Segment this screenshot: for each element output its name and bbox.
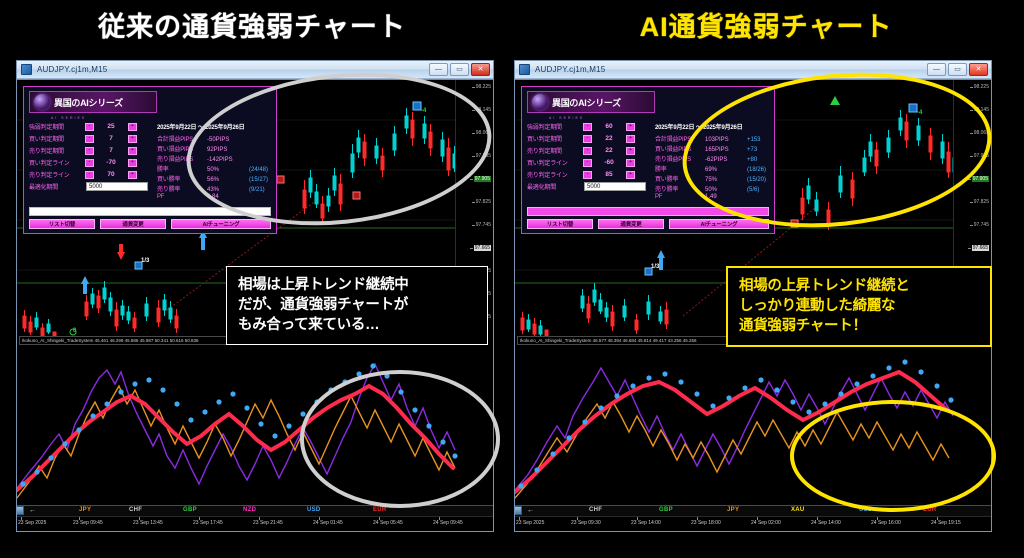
stat-row: 売り勝率 50% (5/6) xyxy=(655,184,769,194)
stat-label: 買い損益PIPS xyxy=(157,144,207,153)
date-label: 23 Sep 09:45 xyxy=(73,520,103,526)
date-label: 24 Sep 05:45 xyxy=(373,520,403,526)
stats-list-left: 2025年9月22日 ～ 2025年9月26日 合計損益PIPS -50PIPS… xyxy=(157,121,271,204)
stat-label: 買い勝率 xyxy=(157,174,207,183)
chart-label-right-0: 1/3 xyxy=(651,264,659,270)
param-value: 70 xyxy=(94,171,128,178)
chart-window-icon xyxy=(519,64,530,75)
strength-indicator-pane-right xyxy=(515,338,991,505)
stat-value: -50PIPS xyxy=(207,137,249,143)
param-row[interactable]: 売り判定ライン - 85 + xyxy=(527,169,649,180)
price-tick: 98.065 xyxy=(476,130,491,136)
price-tick-marker: 97.665 xyxy=(474,245,491,251)
param-label: 売り判定期間 xyxy=(29,146,85,155)
optimize-row[interactable]: 最適化期間 5000 xyxy=(29,181,151,192)
param-row[interactable]: 売り判定ライン - 70 + xyxy=(29,169,151,180)
ai-orb-icon xyxy=(34,94,50,110)
strength-lines-left xyxy=(17,338,493,506)
param-increment-button[interactable]: + xyxy=(128,135,137,143)
param-increment-button[interactable]: + xyxy=(626,171,635,179)
parameter-list-right: 強弱判定期間 - 60 + 買い判定期間 - 22 + 売り判定期間 xyxy=(527,121,649,204)
maximize-button-left[interactable]: ▭ xyxy=(450,63,469,76)
param-increment-button[interactable]: + xyxy=(128,147,137,155)
currency-change-button-left[interactable]: 通貨変更 xyxy=(100,219,166,229)
param-decrement-button[interactable]: - xyxy=(583,159,592,167)
list-switch-button-right[interactable]: リスト切替 xyxy=(527,219,593,229)
stat-label: 売り損益PIPS xyxy=(655,154,705,163)
stat-value: -142PIPS xyxy=(207,157,249,163)
date-label: 23 Sep 09:30 xyxy=(571,520,601,526)
param-decrement-button[interactable]: - xyxy=(85,159,94,167)
stat-value: 92PIPS xyxy=(207,147,249,153)
stat-value: -62PIPS xyxy=(705,157,747,163)
param-increment-button[interactable]: + xyxy=(128,123,137,131)
scroll-left-arrow-left[interactable]: ← xyxy=(29,507,36,514)
stat-row: 勝率 69% (18/26) xyxy=(655,164,769,174)
param-value: -70 xyxy=(94,159,128,166)
stat-delta: (18/26) xyxy=(747,167,766,173)
date-label: 23 Sep 17:45 xyxy=(193,520,223,526)
chart-label-right-1: -4 xyxy=(917,110,922,116)
chart-nav-handle-left[interactable] xyxy=(17,506,24,515)
window-titlebar-left[interactable]: AUDJPY.cj1m,M15 — ▭ ✕ xyxy=(17,61,493,79)
param-row[interactable]: 買い判定期間 - 22 + xyxy=(527,133,649,144)
price-tick-current: 97.905 xyxy=(972,176,989,182)
stat-row: 勝率 50% (24/48) xyxy=(157,164,271,174)
date-label: 24 Sep 02:00 xyxy=(751,520,781,526)
param-value: 7 xyxy=(94,135,128,142)
stat-value: 0.84 xyxy=(207,194,249,200)
currency-tag-chf: CHF xyxy=(129,507,142,513)
param-decrement-button[interactable]: - xyxy=(85,147,94,155)
brand-badge-right: 異国のAIシリーズ xyxy=(527,91,655,113)
callout-legacy: 相場は上昇トレンド継続中 だが、通貨強弱チャートが もみ合って来ている… xyxy=(226,266,488,345)
date-label: 23 Sep 13:45 xyxy=(133,520,163,526)
price-tick: 98.225 xyxy=(476,84,491,90)
chart-label-left-2: 0 xyxy=(73,328,76,334)
stat-row: 売り損益PIPS -62PIPS +80 xyxy=(655,154,769,164)
date-label: 23 Sep 2025 xyxy=(18,520,46,526)
ai-tuning-button-right[interactable]: AIチューニング xyxy=(669,219,769,229)
date-label: 23 Sep 2025 xyxy=(516,520,544,526)
param-label: 売り判定ライン xyxy=(29,170,85,179)
param-decrement-button[interactable]: - xyxy=(583,135,592,143)
ai-orb-icon xyxy=(532,94,548,110)
param-row[interactable]: 強弱判定期間 - 60 + xyxy=(527,121,649,132)
price-tick: 97.825 xyxy=(476,199,491,205)
stat-label: PF xyxy=(655,194,705,200)
price-tick: 97.745 xyxy=(476,222,491,228)
parameter-list-left: 強弱判定期間 - 25 + 買い判定期間 - 7 + 売り判定期間 xyxy=(29,121,151,204)
param-increment-button[interactable]: + xyxy=(626,147,635,155)
strength-indicator-pane-left xyxy=(17,338,493,505)
stat-row: 買い損益PIPS 92PIPS xyxy=(157,144,271,154)
stats-date-range-right: 2025年9月22日 ～ 2025年9月26日 xyxy=(655,122,769,131)
param-value: 22 xyxy=(592,147,626,154)
optimize-row[interactable]: 最適化期間 5000 xyxy=(527,181,649,192)
stat-delta: (15/27) xyxy=(249,177,268,183)
brand-name-right: 異国のAIシリーズ xyxy=(552,96,621,109)
currency-tag-chf: CHF xyxy=(589,507,602,513)
stat-value: 50% xyxy=(207,167,249,173)
date-label: 23 Sep 18:00 xyxy=(691,520,721,526)
currency-tag-nzd: NZD xyxy=(243,507,256,513)
param-decrement-button[interactable]: - xyxy=(85,123,94,131)
list-switch-button-left[interactable]: リスト切替 xyxy=(29,219,95,229)
param-row[interactable]: 売り判定期間 - 22 + xyxy=(527,145,649,156)
stat-label: 買い損益PIPS xyxy=(655,144,705,153)
param-value: 25 xyxy=(94,123,128,130)
param-decrement-button[interactable]: - xyxy=(583,171,592,179)
param-value: -60 xyxy=(592,159,626,166)
status-bar-left xyxy=(29,207,271,216)
currency-tag-eur: EUR xyxy=(923,507,937,513)
stat-label: 勝率 xyxy=(157,164,207,173)
param-decrement-button[interactable]: - xyxy=(85,135,94,143)
price-tick: 98.145 xyxy=(974,107,989,113)
stat-row: 買い勝率 56% (15/27) xyxy=(157,174,271,184)
window-controls-left[interactable]: — ▭ ✕ xyxy=(429,63,490,76)
stat-delta: (5/6) xyxy=(747,187,759,193)
currency-legend-left: ← JPY CHF GBP NZD USD EUR xyxy=(17,506,493,517)
close-button-right[interactable]: ✕ xyxy=(969,63,988,76)
param-value: 7 xyxy=(94,147,128,154)
minimize-button-left[interactable]: — xyxy=(429,63,448,76)
stat-delta: (9/21) xyxy=(249,187,265,193)
price-tick-marker: 97.665 xyxy=(972,245,989,251)
optimize-period-input[interactable]: 5000 xyxy=(584,182,646,191)
price-tick-current: 97.905 xyxy=(474,176,491,182)
price-tick: 97.985 xyxy=(974,153,989,159)
currency-tag-xau: XAU xyxy=(791,507,805,513)
brand-name-left: 異国のAIシリーズ xyxy=(54,96,123,109)
action-buttons-left[interactable]: リスト切替 通貨変更 AIチューニング xyxy=(29,219,271,229)
date-label: 24 Sep 19:15 xyxy=(931,520,961,526)
date-label: 24 Sep 01:45 xyxy=(313,520,343,526)
stat-value: 69% xyxy=(705,167,747,173)
price-tick: 97.825 xyxy=(974,199,989,205)
param-label: 売り判定期間 xyxy=(527,146,583,155)
currency-legend-right: ← CHF GBP JPY XAU USD EUR xyxy=(515,506,991,517)
chart-window-icon xyxy=(21,64,32,75)
param-label: 買い判定ライン xyxy=(527,158,583,167)
price-tick: 98.225 xyxy=(974,84,989,90)
status-bar-right xyxy=(527,207,769,216)
param-increment-button[interactable]: + xyxy=(626,123,635,131)
stat-value: 56% xyxy=(207,177,249,183)
ai-settings-panel-left[interactable]: 異国のAIシリーズ AI SERIES 強弱判定期間 - 25 + 買い判定期間 xyxy=(23,86,277,234)
optimize-label: 最適化期間 xyxy=(527,182,583,191)
param-increment-button[interactable]: + xyxy=(128,171,137,179)
param-label: 強弱判定期間 xyxy=(527,122,583,131)
stat-row: 売り損益PIPS -142PIPS xyxy=(157,154,271,164)
param-value: 22 xyxy=(592,135,626,142)
scroll-left-arrow-right[interactable]: ← xyxy=(527,507,534,514)
heading-legacy-chart: 従来の通貨強弱チャート xyxy=(2,10,502,44)
param-increment-button[interactable]: + xyxy=(626,159,635,167)
price-tick: 98.065 xyxy=(974,130,989,136)
stat-value: 50% xyxy=(705,187,747,193)
stat-delta: (15/20) xyxy=(747,177,766,183)
param-increment-button[interactable]: + xyxy=(626,135,635,143)
window-title-left: AUDJPY.cj1m,M15 xyxy=(37,65,107,74)
stat-value: 103PIPS xyxy=(705,137,747,143)
param-row[interactable]: 買い判定期間 - 7 + xyxy=(29,133,151,144)
stat-label: 合計損益PIPS xyxy=(655,134,705,143)
price-tick: 97.745 xyxy=(974,222,989,228)
stat-row: PF 0.84 xyxy=(157,194,271,204)
currency-tag-jpy: JPY xyxy=(727,507,739,513)
date-label: 23 Sep 21:45 xyxy=(253,520,283,526)
axis-strip-right: ← CHF GBP JPY XAU USD EUR 23 Sep 2025 23… xyxy=(515,505,991,531)
stats-date-range-left: 2025年9月22日 ～ 2025年9月26日 xyxy=(157,122,271,131)
optimize-label: 最適化期間 xyxy=(29,182,85,191)
stat-value: 165PIPS xyxy=(705,147,747,153)
param-label: 売り判定ライン xyxy=(527,170,583,179)
stat-delta: (24/48) xyxy=(249,167,268,173)
stat-row: 買い損益PIPS 165PIPS +73 xyxy=(655,144,769,154)
param-decrement-button[interactable]: - xyxy=(85,171,94,179)
date-label: 24 Sep 14:00 xyxy=(811,520,841,526)
stat-value: 43% xyxy=(207,187,249,193)
param-label: 買い判定期間 xyxy=(29,134,85,143)
stat-label: PF xyxy=(157,194,207,200)
date-label: 24 Sep 16:00 xyxy=(871,520,901,526)
ai-settings-panel-right[interactable]: 異国のAIシリーズ AI SERIES 強弱判定期間 - 60 + 買い判定期間 xyxy=(521,86,775,234)
param-label: 強弱判定期間 xyxy=(29,122,85,131)
stats-list-right: 2025年9月22日 ～ 2025年9月26日 合計損益PIPS 103PIPS… xyxy=(655,121,769,204)
param-increment-button[interactable]: + xyxy=(128,159,137,167)
param-value: 85 xyxy=(592,171,626,178)
minimize-button-right[interactable]: — xyxy=(927,63,946,76)
stat-row: 合計損益PIPS 103PIPS +153 xyxy=(655,134,769,144)
maximize-button-right[interactable]: ▭ xyxy=(948,63,967,76)
time-axis-left: 23 Sep 2025 23 Sep 09:45 23 Sep 13:45 23… xyxy=(17,517,493,531)
stat-label: 売り勝率 xyxy=(157,184,207,193)
stat-value: 1.49 xyxy=(705,194,747,200)
currency-tag-eur: EUR xyxy=(373,507,387,513)
param-label: 買い判定ライン xyxy=(29,158,85,167)
close-button-left[interactable]: ✕ xyxy=(471,63,490,76)
price-tick: 97.985 xyxy=(476,153,491,159)
param-row[interactable]: 強弱判定期間 - 25 + xyxy=(29,121,151,132)
window-titlebar-right[interactable]: AUDJPY.cj1m,M15 — ▭ ✕ xyxy=(515,61,991,79)
stat-value: 75% xyxy=(705,177,747,183)
currency-change-button-right[interactable]: 通貨変更 xyxy=(598,219,664,229)
param-value: 60 xyxy=(592,123,626,130)
stat-label: 勝率 xyxy=(655,164,705,173)
chart-nav-handle-right[interactable] xyxy=(515,506,522,515)
window-title-right: AUDJPY.cj1m,M15 xyxy=(535,65,605,74)
ai-tuning-button-left[interactable]: AIチューニング xyxy=(171,219,271,229)
price-tick: 98.145 xyxy=(476,107,491,113)
stat-row: 売り勝率 43% (9/21) xyxy=(157,184,271,194)
currency-tag-usd: USD xyxy=(307,507,321,513)
date-label: 23 Sep 14:00 xyxy=(631,520,661,526)
axis-strip-left: ← JPY CHF GBP NZD USD EUR 23 Sep 2025 23… xyxy=(17,505,493,531)
heading-ai-chart: AI通貨強弱チャート xyxy=(516,10,1016,44)
callout-ai: 相場の上昇トレンド継続と しっかり連動した綺麗な 通貨強弱チャート！ xyxy=(726,266,992,347)
currency-tag-jpy: JPY xyxy=(79,507,91,513)
stat-delta: +153 xyxy=(747,137,761,143)
stat-label: 売り損益PIPS xyxy=(157,154,207,163)
stat-row: 買い勝率 75% (15/20) xyxy=(655,174,769,184)
param-decrement-button[interactable]: - xyxy=(583,123,592,131)
stat-label: 買い勝率 xyxy=(655,174,705,183)
comparison-screenshot: 従来の通貨強弱チャート AI通貨強弱チャート AUDJPY.cj1m,M15 —… xyxy=(0,0,1024,558)
currency-tag-gbp: GBP xyxy=(659,507,673,513)
chart-label-left-1: -4 xyxy=(421,108,426,114)
param-row[interactable]: 買い判定ライン - -70 + xyxy=(29,157,151,168)
stat-delta: +80 xyxy=(747,157,757,163)
stat-label: 合計損益PIPS xyxy=(157,134,207,143)
strength-lines-right xyxy=(515,338,991,506)
brand-badge-left: 異国のAIシリーズ xyxy=(29,91,157,113)
stat-label: 売り勝率 xyxy=(655,184,705,193)
param-decrement-button[interactable]: - xyxy=(583,147,592,155)
param-row[interactable]: 買い判定ライン - -60 + xyxy=(527,157,649,168)
stat-delta: +73 xyxy=(747,147,757,153)
stat-row: 合計損益PIPS -50PIPS xyxy=(157,134,271,144)
stat-row: PF 1.49 xyxy=(655,194,769,204)
optimize-period-input[interactable]: 5000 xyxy=(86,182,148,191)
window-controls-right[interactable]: — ▭ ✕ xyxy=(927,63,988,76)
action-buttons-right[interactable]: リスト切替 通貨変更 AIチューニング xyxy=(527,219,769,229)
param-label: 買い判定期間 xyxy=(527,134,583,143)
currency-tag-usd: USD xyxy=(859,507,873,513)
time-axis-right: 23 Sep 2025 23 Sep 09:30 23 Sep 14:00 23… xyxy=(515,517,991,531)
chart-label-left-0: 1/3 xyxy=(141,258,149,264)
date-label: 24 Sep 09:45 xyxy=(433,520,463,526)
param-row[interactable]: 売り判定期間 - 7 + xyxy=(29,145,151,156)
currency-tag-gbp: GBP xyxy=(183,507,197,513)
